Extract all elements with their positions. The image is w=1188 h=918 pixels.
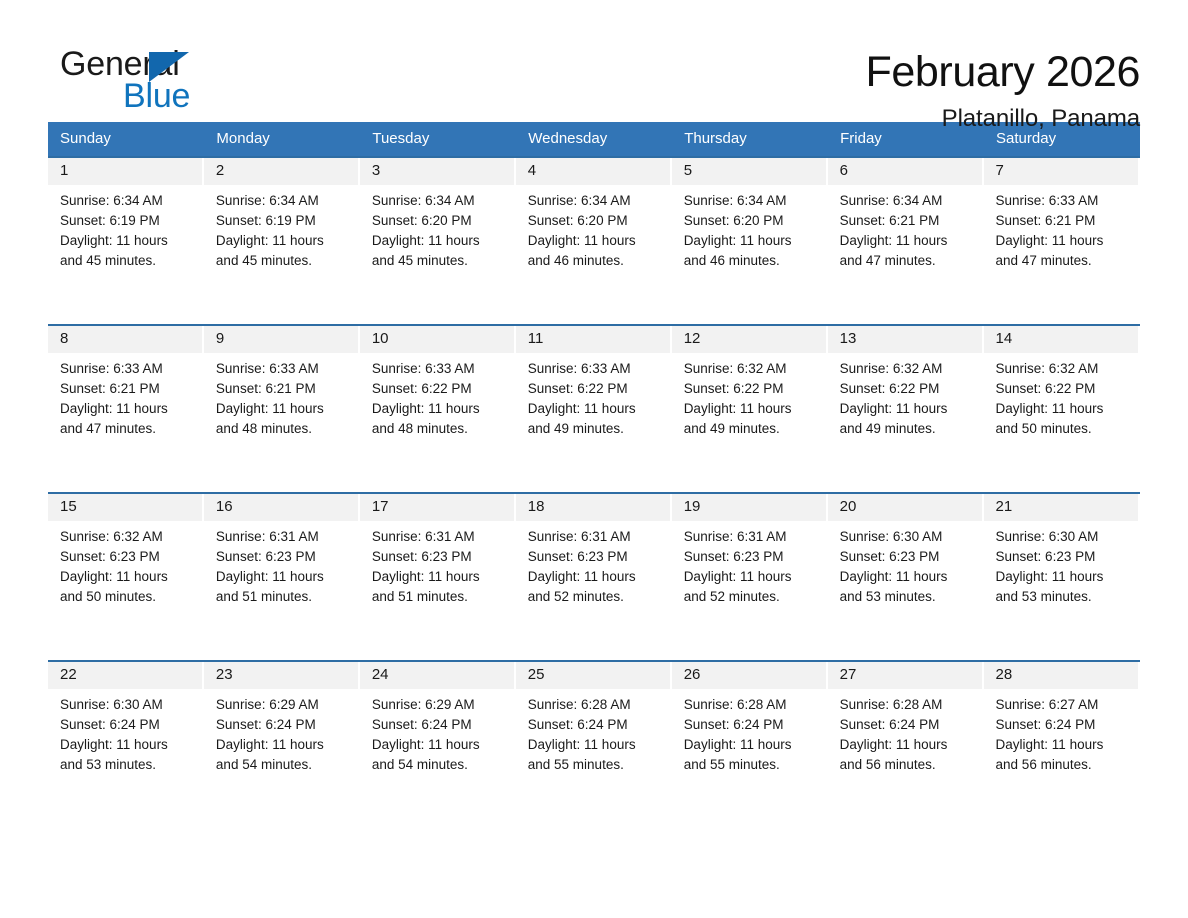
sunrise-text: Sunrise: 6:34 AM (60, 191, 196, 211)
calendar-day-cell[interactable]: 11Sunrise: 6:33 AMSunset: 6:22 PMDayligh… (516, 325, 672, 493)
daylight-text-line2: and 45 minutes. (60, 251, 196, 271)
sunrise-text: Sunrise: 6:34 AM (684, 191, 820, 211)
daylight-text-line2: and 52 minutes. (684, 587, 820, 607)
daylight-text-line2: and 49 minutes. (528, 419, 664, 439)
calendar-day-cell[interactable]: 26Sunrise: 6:28 AMSunset: 6:24 PMDayligh… (672, 661, 828, 828)
day-details: Sunrise: 6:34 AMSunset: 6:19 PMDaylight:… (204, 185, 360, 271)
sunrise-text: Sunrise: 6:31 AM (684, 527, 820, 547)
calendar-week-row: 15Sunrise: 6:32 AMSunset: 6:23 PMDayligh… (48, 493, 1140, 661)
day-number: 8 (48, 326, 202, 353)
day-number: 22 (48, 662, 202, 689)
sunset-text: Sunset: 6:23 PM (840, 547, 976, 567)
sunset-text: Sunset: 6:23 PM (60, 547, 196, 567)
day-number: 11 (516, 326, 670, 353)
page-header: General Blue February 2026 Platanillo, P… (48, 0, 1140, 110)
day-details: Sunrise: 6:34 AMSunset: 6:21 PMDaylight:… (828, 185, 984, 271)
daylight-text-line1: Daylight: 11 hours (996, 567, 1132, 587)
day-number: 1 (48, 158, 202, 185)
sunrise-text: Sunrise: 6:33 AM (216, 359, 352, 379)
sunrise-text: Sunrise: 6:29 AM (216, 695, 352, 715)
sunset-text: Sunset: 6:23 PM (996, 547, 1132, 567)
sunset-text: Sunset: 6:22 PM (840, 379, 976, 399)
sunset-text: Sunset: 6:23 PM (528, 547, 664, 567)
sunset-text: Sunset: 6:22 PM (528, 379, 664, 399)
sunset-text: Sunset: 6:20 PM (684, 211, 820, 231)
sunrise-text: Sunrise: 6:28 AM (684, 695, 820, 715)
sunrise-text: Sunrise: 6:31 AM (372, 527, 508, 547)
calendar-day-cell[interactable]: 20Sunrise: 6:30 AMSunset: 6:23 PMDayligh… (828, 493, 984, 661)
calendar-day-cell[interactable]: 24Sunrise: 6:29 AMSunset: 6:24 PMDayligh… (360, 661, 516, 828)
daylight-text-line2: and 47 minutes. (60, 419, 196, 439)
sunrise-text: Sunrise: 6:30 AM (60, 695, 196, 715)
daylight-text-line2: and 49 minutes. (684, 419, 820, 439)
calendar-day-cell[interactable]: 16Sunrise: 6:31 AMSunset: 6:23 PMDayligh… (204, 493, 360, 661)
sunset-text: Sunset: 6:24 PM (372, 715, 508, 735)
calendar-day-cell[interactable]: 7Sunrise: 6:33 AMSunset: 6:21 PMDaylight… (984, 157, 1140, 325)
day-details: Sunrise: 6:28 AMSunset: 6:24 PMDaylight:… (672, 689, 828, 775)
day-number: 4 (516, 158, 670, 185)
daylight-text-line2: and 51 minutes. (216, 587, 352, 607)
calendar-day-cell[interactable]: 12Sunrise: 6:32 AMSunset: 6:22 PMDayligh… (672, 325, 828, 493)
calendar-day-cell[interactable]: 15Sunrise: 6:32 AMSunset: 6:23 PMDayligh… (48, 493, 204, 661)
sunrise-text: Sunrise: 6:32 AM (60, 527, 196, 547)
daylight-text-line2: and 47 minutes. (840, 251, 976, 271)
daylight-text-line1: Daylight: 11 hours (60, 399, 196, 419)
sunrise-text: Sunrise: 6:34 AM (216, 191, 352, 211)
calendar-day-cell[interactable]: 19Sunrise: 6:31 AMSunset: 6:23 PMDayligh… (672, 493, 828, 661)
daylight-text-line1: Daylight: 11 hours (216, 735, 352, 755)
daylight-text-line1: Daylight: 11 hours (840, 735, 976, 755)
page-title: February 2026 (866, 46, 1140, 98)
sunrise-text: Sunrise: 6:32 AM (684, 359, 820, 379)
day-number: 27 (828, 662, 982, 689)
day-details: Sunrise: 6:28 AMSunset: 6:24 PMDaylight:… (828, 689, 984, 775)
generalblue-logo[interactable]: General Blue (48, 44, 248, 116)
sunrise-text: Sunrise: 6:34 AM (372, 191, 508, 211)
day-number: 14 (984, 326, 1138, 353)
daylight-text-line1: Daylight: 11 hours (996, 399, 1132, 419)
daylight-text-line2: and 55 minutes. (684, 755, 820, 775)
daylight-text-line1: Daylight: 11 hours (372, 231, 508, 251)
sunset-text: Sunset: 6:24 PM (216, 715, 352, 735)
day-details: Sunrise: 6:34 AMSunset: 6:19 PMDaylight:… (48, 185, 204, 271)
daylight-text-line2: and 53 minutes. (60, 755, 196, 775)
daylight-text-line1: Daylight: 11 hours (216, 399, 352, 419)
sunset-text: Sunset: 6:19 PM (216, 211, 352, 231)
day-number: 26 (672, 662, 826, 689)
daylight-text-line1: Daylight: 11 hours (60, 231, 196, 251)
day-details: Sunrise: 6:32 AMSunset: 6:22 PMDaylight:… (828, 353, 984, 439)
daylight-text-line1: Daylight: 11 hours (840, 231, 976, 251)
sunset-text: Sunset: 6:23 PM (372, 547, 508, 567)
calendar-day-cell[interactable]: 22Sunrise: 6:30 AMSunset: 6:24 PMDayligh… (48, 661, 204, 828)
sunset-text: Sunset: 6:24 PM (684, 715, 820, 735)
daylight-text-line1: Daylight: 11 hours (684, 735, 820, 755)
daylight-text-line1: Daylight: 11 hours (684, 567, 820, 587)
daylight-text-line2: and 52 minutes. (528, 587, 664, 607)
daylight-text-line1: Daylight: 11 hours (60, 735, 196, 755)
daylight-text-line2: and 46 minutes. (684, 251, 820, 271)
day-number: 17 (360, 494, 514, 521)
daylight-text-line2: and 48 minutes. (216, 419, 352, 439)
day-details: Sunrise: 6:33 AMSunset: 6:22 PMDaylight:… (516, 353, 672, 439)
day-details: Sunrise: 6:32 AMSunset: 6:23 PMDaylight:… (48, 521, 204, 607)
daylight-text-line2: and 50 minutes. (60, 587, 196, 607)
daylight-text-line2: and 53 minutes. (840, 587, 976, 607)
sunrise-text: Sunrise: 6:33 AM (996, 191, 1132, 211)
sunset-text: Sunset: 6:21 PM (840, 211, 976, 231)
day-number: 15 (48, 494, 202, 521)
day-number: 25 (516, 662, 670, 689)
sunset-text: Sunset: 6:21 PM (60, 379, 196, 399)
calendar-week-row: 22Sunrise: 6:30 AMSunset: 6:24 PMDayligh… (48, 661, 1140, 828)
daylight-text-line1: Daylight: 11 hours (216, 567, 352, 587)
sunrise-sunset-calendar: Sunday Monday Tuesday Wednesday Thursday… (48, 122, 1140, 828)
sunset-text: Sunset: 6:24 PM (840, 715, 976, 735)
day-number: 19 (672, 494, 826, 521)
sunrise-text: Sunrise: 6:27 AM (996, 695, 1132, 715)
day-number: 23 (204, 662, 358, 689)
daylight-text-line1: Daylight: 11 hours (60, 567, 196, 587)
day-details: Sunrise: 6:34 AMSunset: 6:20 PMDaylight:… (516, 185, 672, 271)
weekday-header-monday: Monday (204, 122, 360, 157)
day-number: 20 (828, 494, 982, 521)
day-details: Sunrise: 6:34 AMSunset: 6:20 PMDaylight:… (672, 185, 828, 271)
day-details: Sunrise: 6:33 AMSunset: 6:21 PMDaylight:… (48, 353, 204, 439)
sunset-text: Sunset: 6:24 PM (996, 715, 1132, 735)
day-number: 12 (672, 326, 826, 353)
sunrise-text: Sunrise: 6:33 AM (372, 359, 508, 379)
day-details: Sunrise: 6:34 AMSunset: 6:20 PMDaylight:… (360, 185, 516, 271)
sunrise-text: Sunrise: 6:28 AM (840, 695, 976, 715)
calendar-week-row: 1Sunrise: 6:34 AMSunset: 6:19 PMDaylight… (48, 157, 1140, 325)
calendar-page: General Blue February 2026 Platanillo, P… (0, 0, 1188, 918)
sunrise-text: Sunrise: 6:33 AM (528, 359, 664, 379)
sunset-text: Sunset: 6:22 PM (684, 379, 820, 399)
calendar-day-cell[interactable]: 27Sunrise: 6:28 AMSunset: 6:24 PMDayligh… (828, 661, 984, 828)
day-details: Sunrise: 6:33 AMSunset: 6:21 PMDaylight:… (204, 353, 360, 439)
day-details: Sunrise: 6:30 AMSunset: 6:24 PMDaylight:… (48, 689, 204, 775)
sunrise-text: Sunrise: 6:28 AM (528, 695, 664, 715)
daylight-text-line2: and 53 minutes. (996, 587, 1132, 607)
sunrise-text: Sunrise: 6:30 AM (996, 527, 1132, 547)
sunset-text: Sunset: 6:22 PM (372, 379, 508, 399)
daylight-text-line2: and 54 minutes. (216, 755, 352, 775)
day-number: 13 (828, 326, 982, 353)
day-number: 24 (360, 662, 514, 689)
day-details: Sunrise: 6:33 AMSunset: 6:21 PMDaylight:… (984, 185, 1140, 271)
sunset-text: Sunset: 6:23 PM (684, 547, 820, 567)
daylight-text-line1: Daylight: 11 hours (216, 231, 352, 251)
day-number: 18 (516, 494, 670, 521)
calendar-day-cell[interactable]: 6Sunrise: 6:34 AMSunset: 6:21 PMDaylight… (828, 157, 984, 325)
sunset-text: Sunset: 6:24 PM (60, 715, 196, 735)
calendar-day-cell[interactable]: 5Sunrise: 6:34 AMSunset: 6:20 PMDaylight… (672, 157, 828, 325)
day-details: Sunrise: 6:29 AMSunset: 6:24 PMDaylight:… (360, 689, 516, 775)
daylight-text-line2: and 45 minutes. (372, 251, 508, 271)
sunrise-text: Sunrise: 6:33 AM (60, 359, 196, 379)
sunset-text: Sunset: 6:22 PM (996, 379, 1132, 399)
day-details: Sunrise: 6:33 AMSunset: 6:22 PMDaylight:… (360, 353, 516, 439)
day-details: Sunrise: 6:28 AMSunset: 6:24 PMDaylight:… (516, 689, 672, 775)
calendar-week-row: 8Sunrise: 6:33 AMSunset: 6:21 PMDaylight… (48, 325, 1140, 493)
sunrise-text: Sunrise: 6:34 AM (840, 191, 976, 211)
day-number: 9 (204, 326, 358, 353)
calendar-day-cell[interactable]: 8Sunrise: 6:33 AMSunset: 6:21 PMDaylight… (48, 325, 204, 493)
calendar-day-cell[interactable]: 18Sunrise: 6:31 AMSunset: 6:23 PMDayligh… (516, 493, 672, 661)
calendar-day-cell[interactable]: 23Sunrise: 6:29 AMSunset: 6:24 PMDayligh… (204, 661, 360, 828)
daylight-text-line1: Daylight: 11 hours (840, 399, 976, 419)
daylight-text-line2: and 56 minutes. (996, 755, 1132, 775)
day-number: 16 (204, 494, 358, 521)
daylight-text-line1: Daylight: 11 hours (996, 231, 1132, 251)
day-details: Sunrise: 6:30 AMSunset: 6:23 PMDaylight:… (828, 521, 984, 607)
day-number: 10 (360, 326, 514, 353)
calendar-day-cell[interactable]: 14Sunrise: 6:32 AMSunset: 6:22 PMDayligh… (984, 325, 1140, 493)
day-number: 3 (360, 158, 514, 185)
day-details: Sunrise: 6:32 AMSunset: 6:22 PMDaylight:… (984, 353, 1140, 439)
calendar-day-cell[interactable]: 3Sunrise: 6:34 AMSunset: 6:20 PMDaylight… (360, 157, 516, 325)
calendar-day-cell[interactable]: 21Sunrise: 6:30 AMSunset: 6:23 PMDayligh… (984, 493, 1140, 661)
calendar-body: 1Sunrise: 6:34 AMSunset: 6:19 PMDaylight… (48, 157, 1140, 828)
weekday-header-thursday: Thursday (672, 122, 828, 157)
day-details: Sunrise: 6:27 AMSunset: 6:24 PMDaylight:… (984, 689, 1140, 775)
sunrise-text: Sunrise: 6:30 AM (840, 527, 976, 547)
day-details: Sunrise: 6:30 AMSunset: 6:23 PMDaylight:… (984, 521, 1140, 607)
daylight-text-line2: and 48 minutes. (372, 419, 508, 439)
day-details: Sunrise: 6:31 AMSunset: 6:23 PMDaylight:… (360, 521, 516, 607)
calendar-day-cell[interactable]: 10Sunrise: 6:33 AMSunset: 6:22 PMDayligh… (360, 325, 516, 493)
calendar-day-cell[interactable]: 4Sunrise: 6:34 AMSunset: 6:20 PMDaylight… (516, 157, 672, 325)
day-details: Sunrise: 6:32 AMSunset: 6:22 PMDaylight:… (672, 353, 828, 439)
weekday-header-sunday: Sunday (48, 122, 204, 157)
sunrise-text: Sunrise: 6:31 AM (528, 527, 664, 547)
sunrise-text: Sunrise: 6:34 AM (528, 191, 664, 211)
sunrise-text: Sunrise: 6:29 AM (372, 695, 508, 715)
daylight-text-line2: and 50 minutes. (996, 419, 1132, 439)
daylight-text-line2: and 49 minutes. (840, 419, 976, 439)
day-number: 2 (204, 158, 358, 185)
day-details: Sunrise: 6:29 AMSunset: 6:24 PMDaylight:… (204, 689, 360, 775)
day-details: Sunrise: 6:31 AMSunset: 6:23 PMDaylight:… (516, 521, 672, 607)
daylight-text-line1: Daylight: 11 hours (684, 231, 820, 251)
sunrise-text: Sunrise: 6:32 AM (840, 359, 976, 379)
sunset-text: Sunset: 6:21 PM (216, 379, 352, 399)
calendar-day-cell[interactable]: 2Sunrise: 6:34 AMSunset: 6:19 PMDaylight… (204, 157, 360, 325)
title-block: February 2026 Platanillo, Panama (866, 44, 1140, 136)
calendar-day-cell[interactable]: 28Sunrise: 6:27 AMSunset: 6:24 PMDayligh… (984, 661, 1140, 828)
calendar-day-cell[interactable]: 1Sunrise: 6:34 AMSunset: 6:19 PMDaylight… (48, 157, 204, 325)
day-number: 5 (672, 158, 826, 185)
daylight-text-line2: and 56 minutes. (840, 755, 976, 775)
daylight-text-line1: Daylight: 11 hours (996, 735, 1132, 755)
day-number: 21 (984, 494, 1138, 521)
daylight-text-line1: Daylight: 11 hours (528, 231, 664, 251)
daylight-text-line1: Daylight: 11 hours (528, 567, 664, 587)
daylight-text-line2: and 47 minutes. (996, 251, 1132, 271)
sunset-text: Sunset: 6:20 PM (528, 211, 664, 231)
weekday-header-tuesday: Tuesday (360, 122, 516, 157)
calendar-day-cell[interactable]: 17Sunrise: 6:31 AMSunset: 6:23 PMDayligh… (360, 493, 516, 661)
sunrise-text: Sunrise: 6:32 AM (996, 359, 1132, 379)
calendar-day-cell[interactable]: 9Sunrise: 6:33 AMSunset: 6:21 PMDaylight… (204, 325, 360, 493)
day-number: 28 (984, 662, 1138, 689)
daylight-text-line2: and 45 minutes. (216, 251, 352, 271)
logo-text-blue: Blue (123, 76, 190, 116)
day-number: 6 (828, 158, 982, 185)
daylight-text-line2: and 55 minutes. (528, 755, 664, 775)
daylight-text-line1: Daylight: 11 hours (528, 399, 664, 419)
daylight-text-line2: and 46 minutes. (528, 251, 664, 271)
day-number: 7 (984, 158, 1138, 185)
daylight-text-line1: Daylight: 11 hours (372, 567, 508, 587)
sunset-text: Sunset: 6:20 PM (372, 211, 508, 231)
daylight-text-line1: Daylight: 11 hours (840, 567, 976, 587)
calendar-day-cell[interactable]: 25Sunrise: 6:28 AMSunset: 6:24 PMDayligh… (516, 661, 672, 828)
sunset-text: Sunset: 6:19 PM (60, 211, 196, 231)
calendar-day-cell[interactable]: 13Sunrise: 6:32 AMSunset: 6:22 PMDayligh… (828, 325, 984, 493)
sunrise-text: Sunrise: 6:31 AM (216, 527, 352, 547)
sunset-text: Sunset: 6:21 PM (996, 211, 1132, 231)
daylight-text-line1: Daylight: 11 hours (372, 735, 508, 755)
daylight-text-line2: and 54 minutes. (372, 755, 508, 775)
daylight-text-line1: Daylight: 11 hours (684, 399, 820, 419)
daylight-text-line1: Daylight: 11 hours (372, 399, 508, 419)
daylight-text-line1: Daylight: 11 hours (528, 735, 664, 755)
sunset-text: Sunset: 6:23 PM (216, 547, 352, 567)
weekday-header-wednesday: Wednesday (516, 122, 672, 157)
day-details: Sunrise: 6:31 AMSunset: 6:23 PMDaylight:… (672, 521, 828, 607)
day-details: Sunrise: 6:31 AMSunset: 6:23 PMDaylight:… (204, 521, 360, 607)
sunset-text: Sunset: 6:24 PM (528, 715, 664, 735)
daylight-text-line2: and 51 minutes. (372, 587, 508, 607)
